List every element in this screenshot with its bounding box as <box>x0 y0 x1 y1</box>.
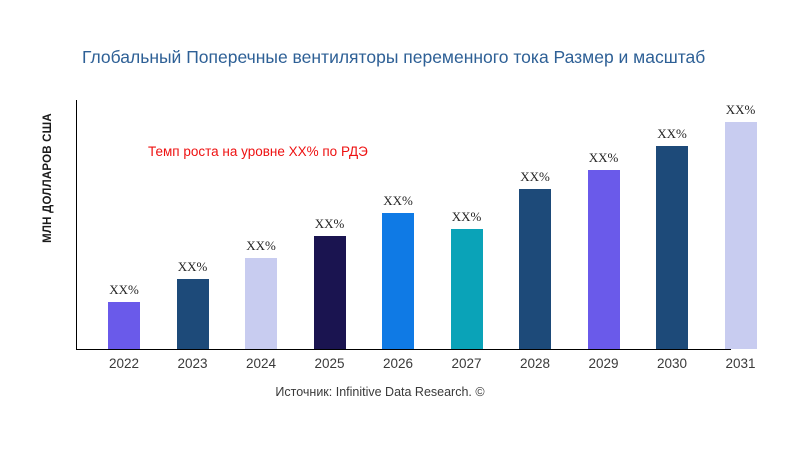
bar-value-label-2022: XX% <box>94 282 154 298</box>
source-note: Источник: Infinitive Data Research. © <box>0 385 760 399</box>
bar-value-label-2028: XX% <box>505 169 565 185</box>
bar-2022[interactable] <box>108 302 140 349</box>
bar-2028[interactable] <box>519 189 551 349</box>
bar-value-label-2025: XX% <box>300 216 360 232</box>
bar-value-label-2026: XX% <box>368 193 428 209</box>
x-tick-2022: 2022 <box>94 356 154 371</box>
x-tick-2025: 2025 <box>300 356 360 371</box>
bar-2023[interactable] <box>177 279 209 349</box>
plot-area: XX%XX%XX%XX%XX%XX%XX%XX%XX%XX% 202220232… <box>0 0 800 450</box>
x-tick-2028: 2028 <box>505 356 565 371</box>
bar-2026[interactable] <box>382 213 414 349</box>
x-tick-2031: 2031 <box>711 356 771 371</box>
cagr-annotation: Темп роста на уровне XX% по РДЭ <box>148 144 368 159</box>
x-tick-2023: 2023 <box>163 356 223 371</box>
bar-value-label-2030: XX% <box>642 126 702 142</box>
chart-container: Глобальный Поперечные вентиляторы переме… <box>0 0 800 450</box>
x-tick-2026: 2026 <box>368 356 428 371</box>
bar-2029[interactable] <box>588 170 620 349</box>
bar-value-label-2031: XX% <box>711 102 771 118</box>
x-tick-2024: 2024 <box>231 356 291 371</box>
bar-2031[interactable] <box>725 122 757 349</box>
bar-2030[interactable] <box>656 146 688 349</box>
bar-value-label-2024: XX% <box>231 238 291 254</box>
bar-2024[interactable] <box>245 258 277 349</box>
bar-2025[interactable] <box>314 236 346 349</box>
x-axis-line <box>76 349 731 350</box>
bar-value-label-2023: XX% <box>163 259 223 275</box>
bar-value-label-2029: XX% <box>574 150 634 166</box>
x-tick-2029: 2029 <box>574 356 634 371</box>
x-tick-2030: 2030 <box>642 356 702 371</box>
x-tick-2027: 2027 <box>437 356 497 371</box>
bar-value-label-2027: XX% <box>437 209 497 225</box>
y-axis-line <box>76 100 77 350</box>
bar-2027[interactable] <box>451 229 483 349</box>
